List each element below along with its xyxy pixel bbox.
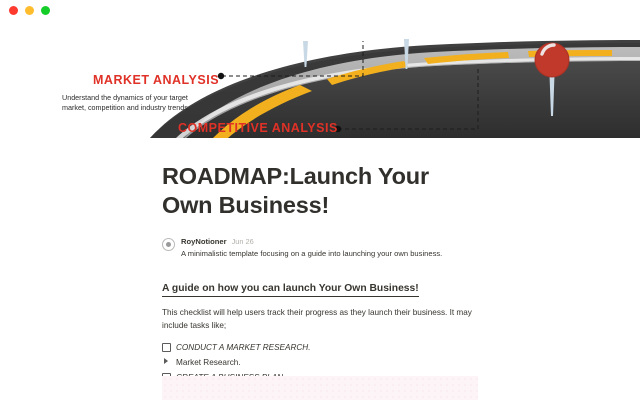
browser-window: MARKET ANALYSIS Understand the dynamics … bbox=[0, 0, 640, 400]
window-titlebar bbox=[0, 0, 640, 21]
page-cover-image[interactable]: MARKET ANALYSIS Understand the dynamics … bbox=[0, 21, 640, 138]
checkbox-icon[interactable] bbox=[162, 343, 171, 352]
page-summary: A minimalistic template focusing on a gu… bbox=[181, 249, 442, 259]
author-name[interactable]: RoyNotioner bbox=[181, 237, 227, 246]
avatar[interactable] bbox=[162, 238, 175, 251]
callout-block[interactable] bbox=[162, 376, 478, 400]
cover-label-market-analysis: MARKET ANALYSIS bbox=[93, 73, 219, 87]
document-content-column: ROADMAP:Launch Your Own Business! RoyNot… bbox=[162, 138, 478, 400]
minimize-window-button[interactable] bbox=[25, 6, 34, 15]
toggle-item[interactable]: Market Research. bbox=[162, 357, 478, 371]
checklist-item-label: CONDUCT A MARKET RESEARCH. bbox=[176, 342, 311, 354]
toggle-marker[interactable] bbox=[162, 357, 176, 364]
cover-label-competitive-analysis: COMPETITIVE ANALYSIS bbox=[178, 121, 338, 135]
intro-paragraph: This checklist will help users track the… bbox=[162, 306, 478, 333]
byline-top-row: RoyNotioner Jun 26 bbox=[181, 237, 442, 246]
checkbox-marker[interactable] bbox=[162, 342, 176, 352]
cover-description-market-analysis: Understand the dynamics of your target m… bbox=[62, 93, 190, 114]
close-window-button[interactable] bbox=[9, 6, 18, 15]
cover-desc-market-line1: Understand the dynamics of your target bbox=[62, 93, 190, 103]
document-body: ROADMAP:Launch Your Own Business! RoyNot… bbox=[0, 138, 640, 400]
maximize-window-button[interactable] bbox=[41, 6, 50, 15]
section-heading[interactable]: A guide on how you can launch Your Own B… bbox=[162, 282, 419, 297]
byline: RoyNotioner Jun 26 A minimalistic templa… bbox=[162, 237, 478, 259]
traffic-lights bbox=[9, 6, 50, 15]
page-title[interactable]: ROADMAP:Launch Your Own Business! bbox=[162, 162, 478, 219]
checklist-item[interactable]: CONDUCT A MARKET RESEARCH. bbox=[162, 342, 478, 356]
post-date: Jun 26 bbox=[232, 237, 254, 246]
chevron-right-icon[interactable] bbox=[164, 358, 168, 364]
toggle-item-label: Market Research. bbox=[176, 357, 241, 369]
cover-desc-market-line2: market, competition and industry trends. bbox=[62, 103, 190, 113]
byline-text: RoyNotioner Jun 26 A minimalistic templa… bbox=[181, 237, 442, 259]
